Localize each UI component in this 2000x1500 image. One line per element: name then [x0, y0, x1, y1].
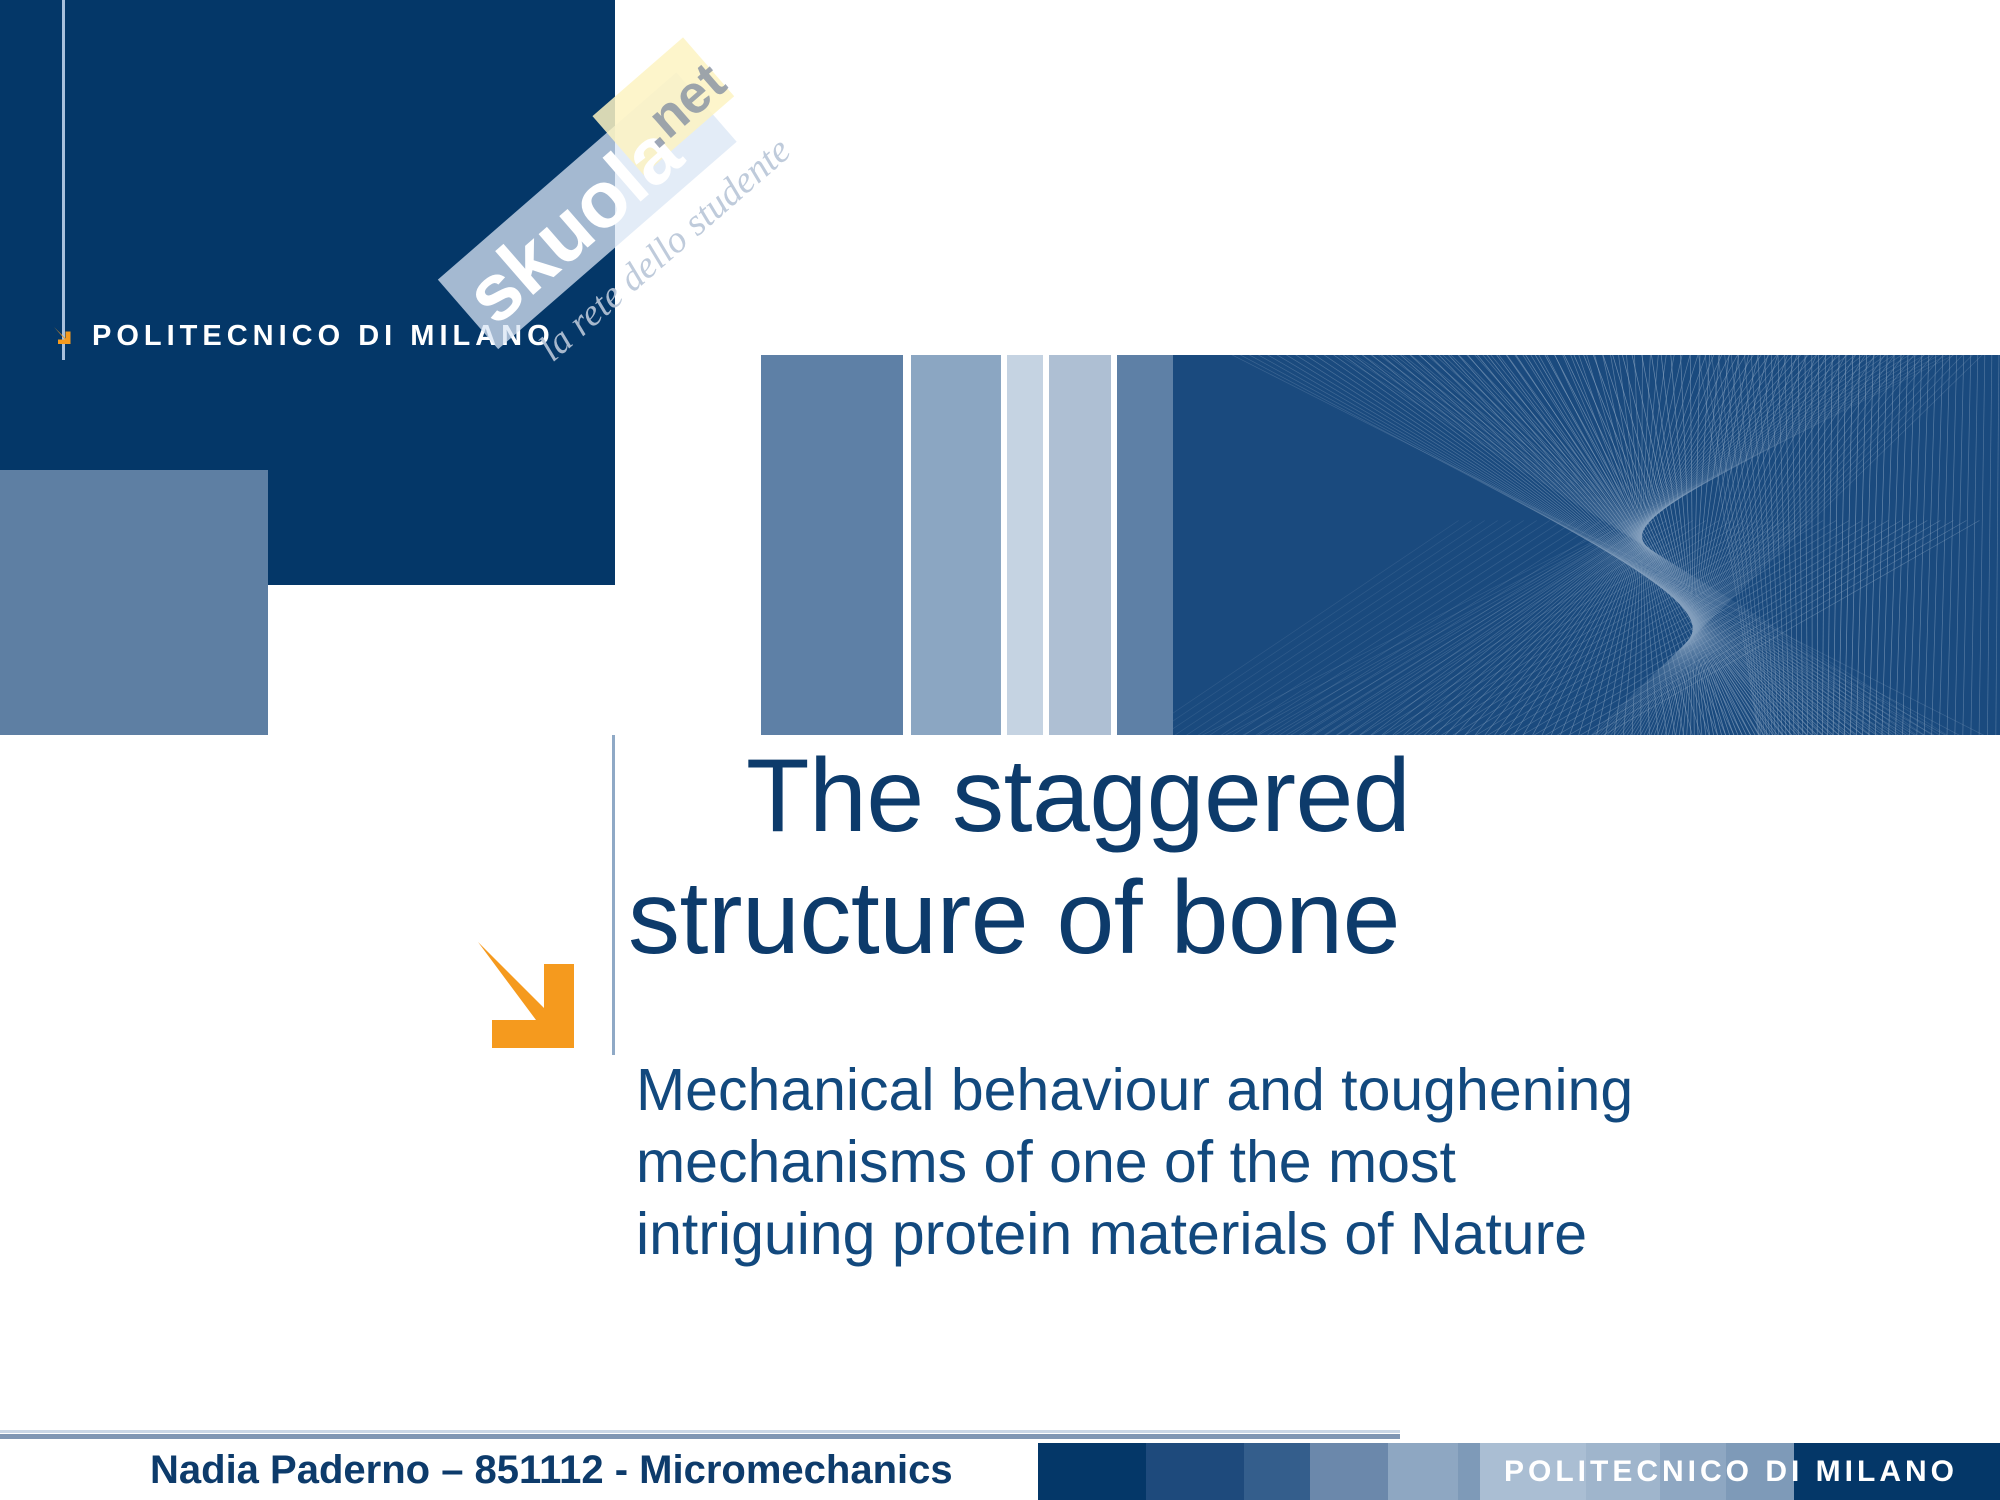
subtitle-line: Mechanical behaviour and toughening: [636, 1055, 1926, 1127]
footer-logo-text: POLITECNICO DI MILANO: [1504, 1455, 1958, 1489]
footer-band: [1038, 1443, 1146, 1500]
arrow-down-right-icon: [470, 928, 600, 1058]
footer-divider: [0, 1434, 1400, 1439]
wireframe-mesh-graphic: [615, 355, 2000, 735]
page-title: The staggered structure of bone: [628, 736, 1898, 979]
footer-divider-light: [0, 1430, 1400, 1433]
slate-accent-block: [0, 470, 268, 735]
footer-band: [1146, 1443, 1244, 1500]
institution-logo: POLITECNICO DI MILANO: [52, 316, 555, 356]
footer-band: [1310, 1443, 1388, 1500]
title-divider-rule: [612, 735, 615, 1055]
page-subtitle: Mechanical behaviour and toughening mech…: [636, 1055, 1926, 1271]
footer-band: [1388, 1443, 1458, 1500]
arrow-down-right-icon: [52, 325, 74, 347]
footer-brand-bar: POLITECNICO DI MILANO: [1030, 1443, 2000, 1500]
subtitle-line: intriguing protein materials of Nature: [636, 1199, 1926, 1271]
footer-band: [1244, 1443, 1310, 1500]
title-line: The staggered: [628, 736, 1898, 858]
footer-band: [1030, 1443, 1038, 1500]
watermark-domain-text: .net: [625, 51, 737, 159]
presentation-slide: POLITECNICO DI MILANO The staggered: [0, 0, 2000, 1500]
institution-logo-text: POLITECNICO DI MILANO: [92, 322, 555, 351]
footer-author-text: Nadia Paderno – 851112 - Micromechanics: [150, 1448, 953, 1493]
title-line: structure of bone: [628, 858, 1898, 980]
brand-panel-rule: [62, 0, 65, 360]
footer-band: [1458, 1443, 1480, 1500]
decorative-banner: [615, 355, 2000, 735]
subtitle-line: mechanisms of one of the most: [636, 1127, 1926, 1199]
